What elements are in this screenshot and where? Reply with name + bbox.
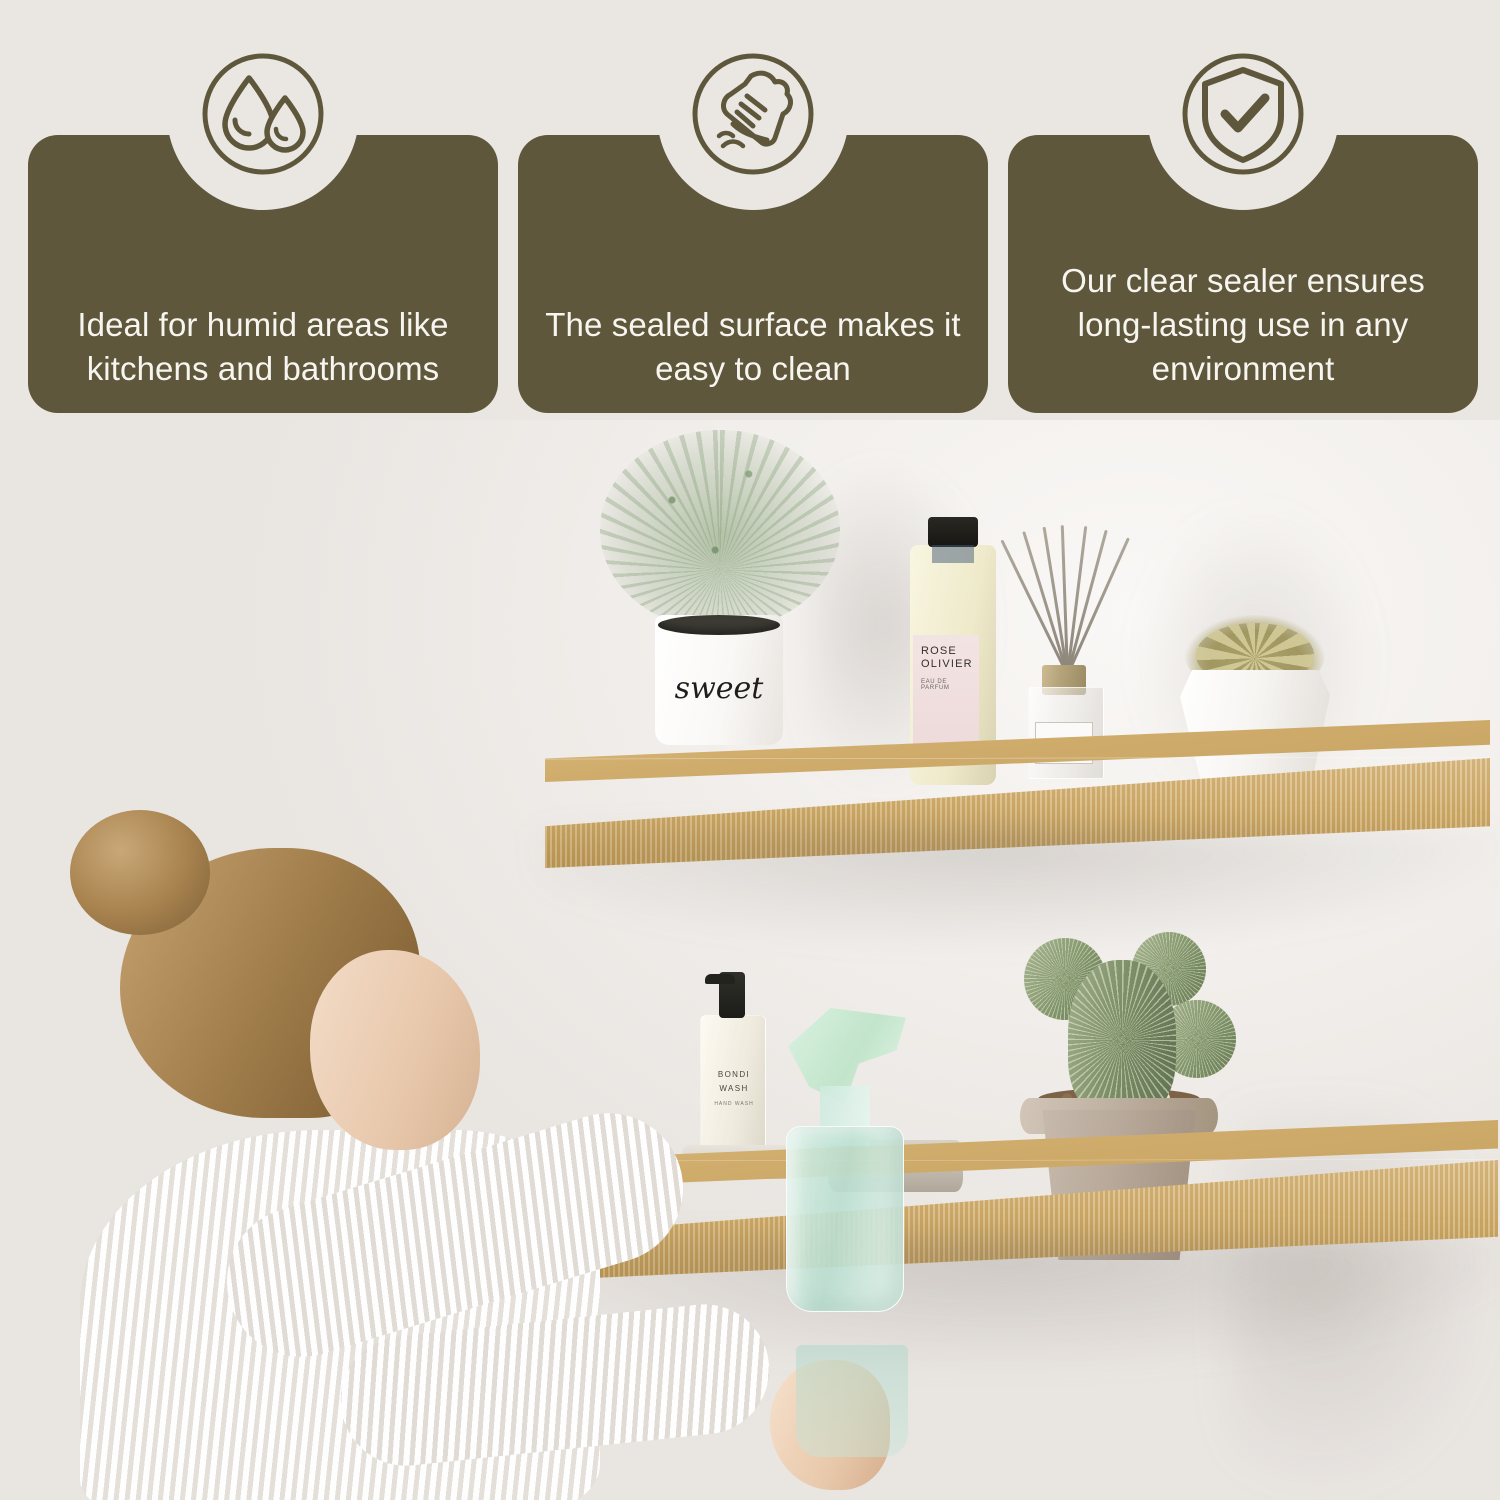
bottle-label-line2: EAU DE PARFUM [921,679,973,691]
feature-card-text: Our clear sealer ensures long-lasting us… [1027,259,1459,391]
product-scene: sweet ROSE OLIVIER EAU DE PARFUM JO MALO… [0,420,1500,1500]
spray-bottle [780,980,908,1310]
feature-cards: Ideal for humid areas like kitchens and … [0,0,1500,420]
feature-card-text: Ideal for humid areas like kitchens and … [47,303,479,391]
child-hair-bun [70,810,210,935]
child-model [10,800,890,1500]
planter-rim [658,615,780,635]
cactus-body [1068,960,1176,1120]
bottle-label-line1: ROSE OLIVIER [921,645,973,671]
planter-script-text: sweet [655,671,783,706]
bottle-cap [928,517,978,547]
hand-wiping-cloth-icon [657,18,849,210]
water-droplets-icon [167,18,359,210]
feature-card-text: The sealed surface makes it easy to clea… [537,303,969,391]
bottle-neck [932,545,974,563]
diffuser-reeds [1028,515,1108,675]
child-face [310,950,480,1150]
spray-bottle-liquid [796,1345,908,1457]
shield-check-icon [1147,18,1339,210]
faux-greenery [600,430,840,630]
spray-bottle-body [786,1126,904,1312]
